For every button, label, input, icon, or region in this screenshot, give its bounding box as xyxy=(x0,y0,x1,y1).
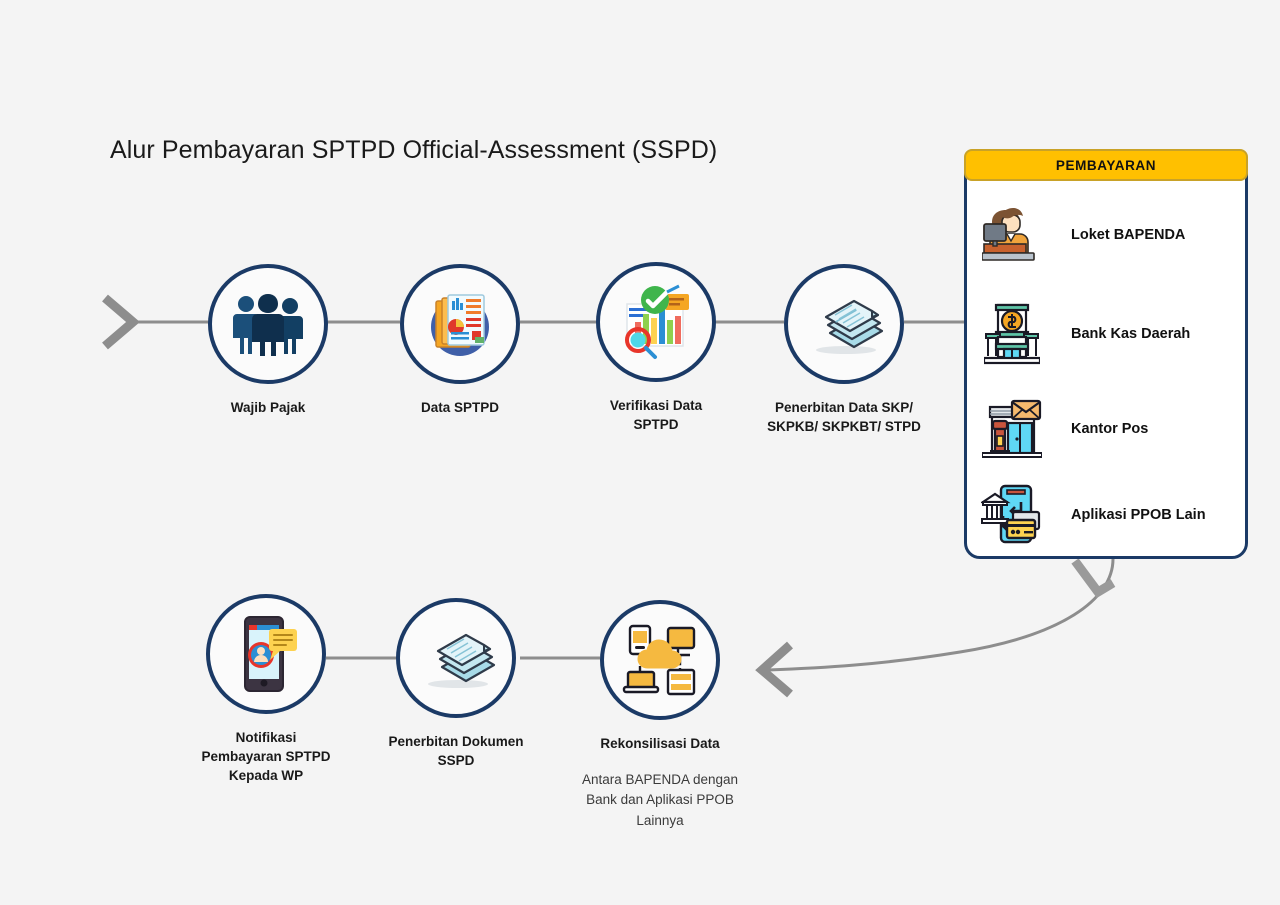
flow-node-notifikasi-pembayaran[interactable]: Notifikasi Pembayaran SPTPD Kepada WP xyxy=(206,594,326,714)
flow-node-penerbitan-dokumen-sspd[interactable]: Penerbitan Dokumen SSPD xyxy=(396,598,516,718)
payment-option-label: Bank Kas Daerah xyxy=(1071,326,1190,342)
flow-node-wajib-pajak[interactable]: Wajib Pajak xyxy=(208,264,328,384)
three-people-icon xyxy=(231,292,305,356)
payment-option-label: Kantor Pos xyxy=(1071,421,1148,437)
node-circle xyxy=(206,594,326,714)
flow-node-label-line: SSPD xyxy=(336,751,576,770)
node-circle xyxy=(600,600,720,720)
curved-return-line xyxy=(768,559,1113,670)
flow-node-sublabel: Antara BAPENDA dengan Bank dan Aplikasi … xyxy=(540,770,780,831)
node-circle xyxy=(784,264,904,384)
payment-option-label: Aplikasi PPOB Lain xyxy=(1071,507,1206,523)
flow-node-rekonsilisasi-data[interactable]: Rekonsilisasi Data Antara BAPENDA dengan… xyxy=(600,600,720,720)
document-stack-icon xyxy=(802,289,886,359)
flow-node-label-line: Penerbitan Data SKP/ xyxy=(724,398,964,417)
bank-building-icon xyxy=(975,303,1049,365)
mobile-notification-icon xyxy=(233,615,299,693)
post-office-icon xyxy=(975,399,1049,459)
node-circle xyxy=(208,264,328,384)
flow-node-sublabel-line: Antara BAPENDA dengan xyxy=(540,770,780,790)
payment-option-label: Loket BAPENDA xyxy=(1071,227,1185,243)
flow-node-sublabel-line: Bank dan Aplikasi PPOB xyxy=(540,790,780,810)
page-title: Alur Pembayaran SPTPD Official-Assessmen… xyxy=(110,136,717,165)
payment-option-aplikasi-ppob-lain[interactable]: Aplikasi PPOB Lain xyxy=(967,474,1251,556)
payment-option-kantor-pos[interactable]: Kantor Pos xyxy=(967,388,1251,470)
node-circle xyxy=(596,262,716,382)
cloud-network-icon xyxy=(620,622,700,698)
report-document-icon xyxy=(422,287,498,361)
chevron-right-arrow-icon xyxy=(105,298,133,346)
curve-down-arrowhead-icon xyxy=(1075,561,1113,592)
flow-node-penerbitan-data-skp[interactable]: Penerbitan Data SKP/ SKPKB/ SKPKBT/ STPD xyxy=(784,264,904,384)
flow-node-label-line: Rekonsilisasi Data xyxy=(540,734,780,753)
payment-option-loket-bapenda[interactable]: Loket BAPENDA xyxy=(967,194,1251,276)
flow-node-label: Rekonsilisasi Data xyxy=(540,734,780,753)
flow-node-sublabel-line: Lainnya xyxy=(540,811,780,831)
payment-option-bank-kas-daerah[interactable]: Bank Kas Daerah xyxy=(967,293,1251,375)
flow-node-label: Penerbitan Data SKP/ SKPKB/ SKPKBT/ STPD xyxy=(724,398,964,436)
payment-panel-header: PEMBAYARAN xyxy=(964,149,1248,181)
flow-node-label-line: SKPKB/ SKPKBT/ STPD xyxy=(724,417,964,436)
teller-counter-icon xyxy=(975,206,1049,264)
mobile-payment-icon xyxy=(975,484,1049,546)
data-verification-icon xyxy=(615,284,697,360)
payment-panel: PEMBAYARAN xyxy=(964,153,1248,559)
document-stack-icon xyxy=(414,623,498,693)
node-circle xyxy=(396,598,516,718)
node-circle xyxy=(400,264,520,384)
flow-node-data-sptpd[interactable]: Data SPTPD xyxy=(400,264,520,384)
chevron-left-arrow-icon xyxy=(762,645,790,694)
flow-node-verifikasi-data-sptpd[interactable]: Verifikasi Data SPTPD xyxy=(596,262,716,382)
diagram-canvas: Alur Pembayaran SPTPD Official-Assessmen… xyxy=(0,0,1280,905)
